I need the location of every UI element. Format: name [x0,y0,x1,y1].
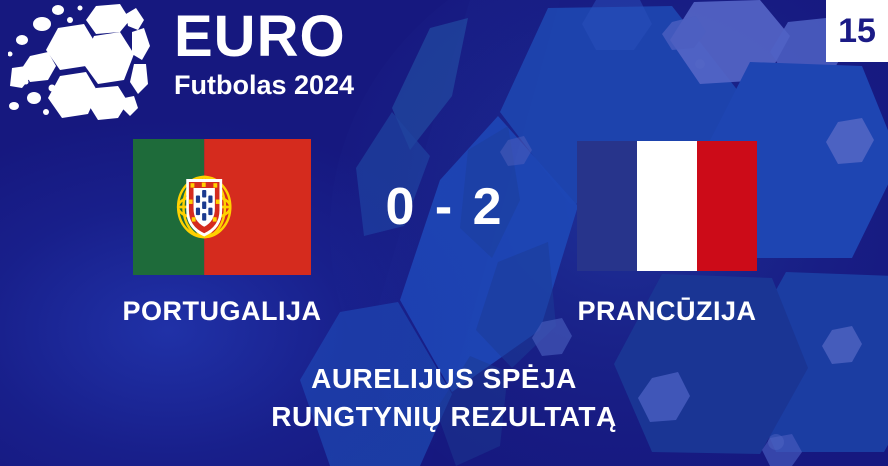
match-number: 15 [838,14,876,48]
euro-logo: EURO Futbolas 2024 [0,0,400,120]
france-flag-icon [577,141,757,271]
home-team-name: PORTUGALIJA [102,295,342,327]
portugal-flag-icon [133,139,311,275]
euro-title: EURO [174,6,404,68]
caption-block: AURELIJUS SPĖJA RUNGTYNIŲ REZULTATĄ [144,360,744,436]
match-result-card: EURO Futbolas 2024 15 [0,0,888,466]
caption-line-1: AURELIJUS SPĖJA [144,360,744,398]
match-number-badge: 15 [826,0,888,62]
euro-subtitle: Futbolas 2024 [174,70,404,100]
football-ball-icon [8,2,160,120]
caption-line-2: RUNGTYNIŲ REZULTATĄ [144,398,744,436]
away-team-name: PRANCŪZIJA [546,295,788,327]
match-score: 0 - 2 [345,178,545,236]
